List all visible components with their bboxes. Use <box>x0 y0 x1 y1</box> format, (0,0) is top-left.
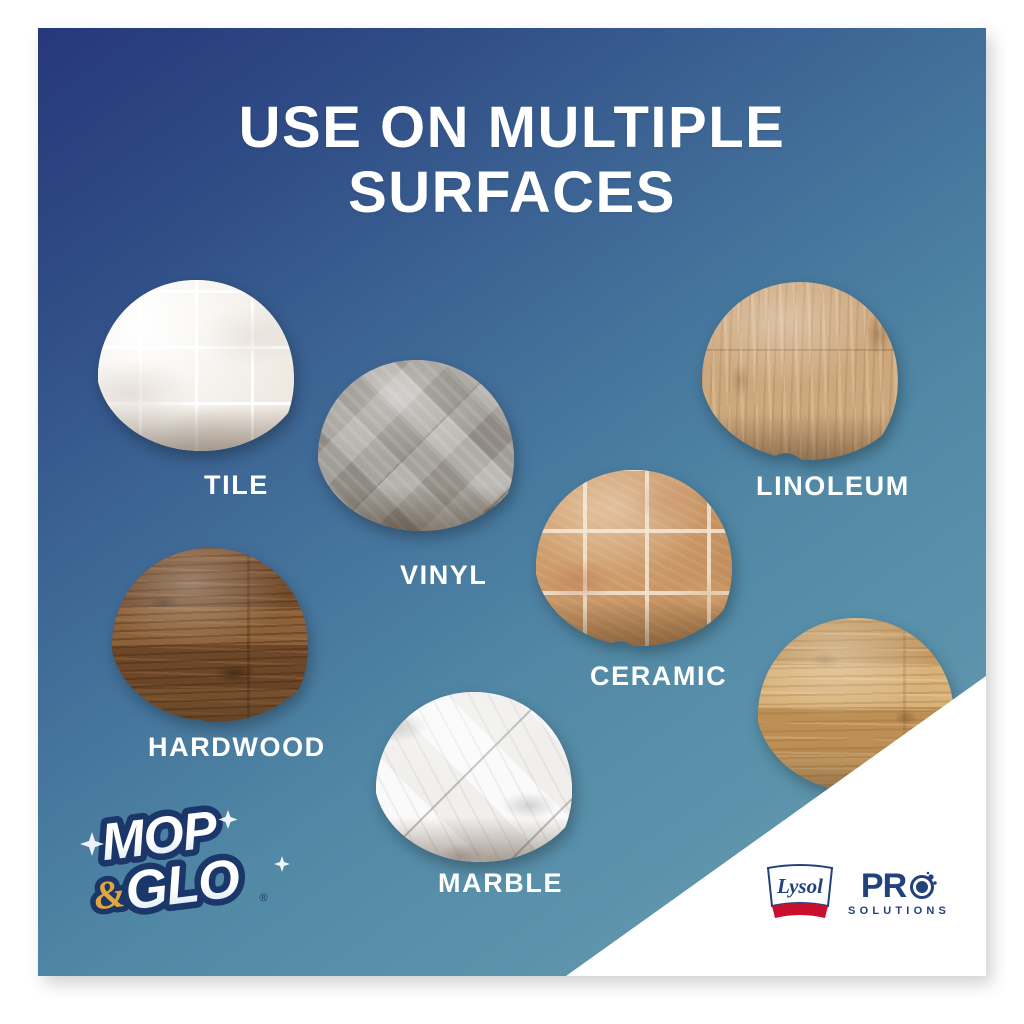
lysol-pro-solutions-logo: Lysol PR SOLUTIONS <box>764 862 950 924</box>
surface-swatch-marble[interactable] <box>374 690 586 862</box>
solutions-text: SOLUTIONS <box>848 906 950 917</box>
page-title: USE ON MULTIPLE SURFACES <box>38 96 986 226</box>
swatch-shape-ceramic <box>534 468 744 646</box>
mop-and-glo-logo-art: MOP MOP & & GLO GLO ® <box>78 798 298 918</box>
texture-vinyl <box>316 358 526 531</box>
texture-linoleum <box>700 280 916 460</box>
headline-line-1: USE ON MULTIPLE <box>239 95 786 160</box>
lysol-badge: Lysol <box>764 862 836 924</box>
texture-marble <box>374 690 586 862</box>
lysol-wordmark: Lysol <box>776 874 823 898</box>
surface-label-wood: WOOD <box>832 804 925 835</box>
lysol-badge-art: Lysol <box>764 862 836 924</box>
surface-swatch-tile[interactable] <box>96 278 306 451</box>
swatch-shape-vinyl <box>316 358 526 531</box>
texture-tile <box>96 278 306 451</box>
mopglo-registered-mark: ® <box>259 892 269 905</box>
surface-swatch-hardwood[interactable] <box>110 546 322 722</box>
headline-line-2: SURFACES <box>38 161 986 226</box>
surface-label-linoleum: LINOLEUM <box>756 471 910 502</box>
pro-text: PR <box>861 869 906 903</box>
poster-canvas: USE ON MULTIPLE SURFACES TILE VINYL <box>0 0 1024 1024</box>
texture-hardwood <box>110 546 322 722</box>
surface-swatch-vinyl[interactable] <box>316 358 526 531</box>
surface-label-ceramic: CERAMIC <box>590 661 727 692</box>
pro-o-bubble-icon <box>907 871 937 901</box>
pro-solutions-wordmark: PR SOLUTIONS <box>848 869 950 917</box>
swatch-shape-linoleum <box>700 280 916 460</box>
swatch-shape-hardwood <box>110 546 322 722</box>
surface-label-hardwood: HARDWOOD <box>148 732 326 763</box>
poster-card: USE ON MULTIPLE SURFACES TILE VINYL <box>38 28 986 976</box>
swatch-shape-tile <box>96 278 306 451</box>
surface-swatch-linoleum[interactable] <box>700 280 916 460</box>
texture-ceramic <box>534 468 744 646</box>
swatch-shape-marble <box>374 690 586 862</box>
mopglo-ampersand: & <box>91 870 127 918</box>
surface-swatch-ceramic[interactable] <box>534 468 744 646</box>
surface-label-marble: MARBLE <box>438 868 563 899</box>
mop-and-glo-logo: MOP MOP & & GLO GLO ® <box>78 798 298 918</box>
surface-label-vinyl: VINYL <box>400 560 488 591</box>
surface-label-tile: TILE <box>204 470 269 501</box>
